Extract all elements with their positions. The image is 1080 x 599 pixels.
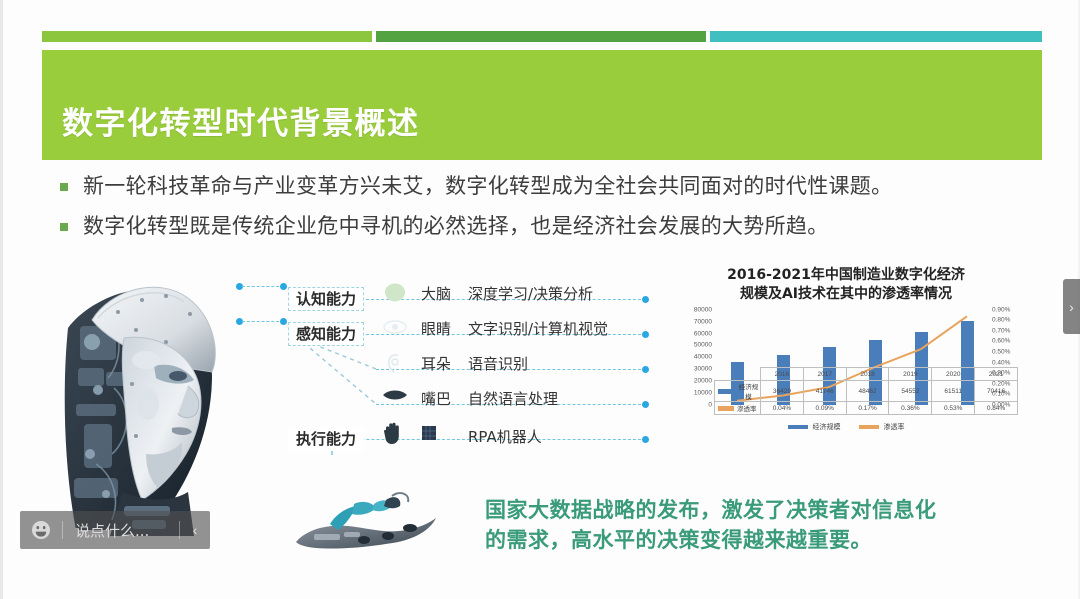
hand-icon (376, 422, 410, 451)
page-title: 数字化转型时代背景概述 (62, 98, 420, 143)
bullet-list: 新一轮科技革命与产业变革方兴未艾，数字化转型成为全社会共同面对的时代性课题。 数… (60, 172, 1020, 253)
series-swatch-line-icon (718, 406, 734, 411)
video-slide-viewport: 数字化转型时代背景概述 新一轮科技革命与产业变革方兴未艾，数字化转型成为全社会共… (0, 0, 1080, 599)
y-tick-label: 30000 (694, 366, 712, 373)
chart-panel: 2016-2021年中国制造业数字化经济 规模及AI技术在其中的渗透率情况 80… (676, 266, 1016, 466)
accent-bar-row (42, 31, 1042, 42)
capability-chip-execution[interactable]: 执行能力 (288, 427, 364, 451)
table-corner-cell (715, 368, 761, 381)
legend-item-line: 渗透率 (859, 422, 905, 432)
table-header-cell: 2020 (932, 368, 975, 381)
accent-bar-3 (710, 31, 1042, 42)
connector-dot (642, 436, 649, 443)
part-name: 大脑 (421, 283, 451, 304)
part-desc: 自然语言处理 (468, 388, 558, 409)
table-cell: 0.84% (975, 402, 1018, 415)
y-tick-label: 20000 (694, 378, 712, 385)
capability-chip-perception[interactable]: 感知能力 (288, 322, 364, 346)
table-header-cell: 2016 (761, 368, 804, 381)
list-item: 新一轮科技革命与产业变革方兴未艾，数字化转型成为全社会共同面对的时代性课题。 (60, 172, 1020, 200)
title-band: 数字化转型时代背景概述 (42, 50, 1042, 160)
table-cell: 41746 (803, 381, 846, 402)
chart-title-line1: 2016-2021年中国制造业数字化经济 (727, 267, 965, 283)
caption-line-2: 的需求，高水平的决策变得越来越重要。 (485, 525, 985, 555)
mouth-icon (378, 388, 412, 407)
y-tick-label: 50000 (694, 342, 712, 349)
chart-legend: 经济规模 渗透率 (676, 422, 1016, 432)
table-series-label-cell: 渗透率 (715, 402, 761, 415)
table-cell: 0.36% (889, 402, 932, 415)
table-cell: 0.17% (846, 402, 889, 415)
chart-y-axis-left: 8000070000600005000040000300002000010000… (676, 310, 712, 405)
part-desc: RPA机器人 (468, 426, 542, 447)
legend-label: 渗透率 (884, 422, 905, 432)
series-name: 渗透率 (737, 403, 757, 413)
bullet-text: 新一轮科技革命与产业变革方兴未艾，数字化转型成为全社会共同面对的时代性课题。 (83, 172, 892, 200)
chart-data-table: 2016 2017 2018 2019 2020 2021 经济规模 36429 (714, 367, 1018, 415)
accent-bar-1 (42, 31, 372, 42)
letterbox-left-edge (0, 0, 3, 599)
connector-dot (642, 366, 649, 373)
table-cell: 48462 (846, 381, 889, 402)
caption-line-1: 国家大数据战略的发布，激发了决策者对信息化 (485, 495, 985, 525)
table-row-header: 2016 2017 2018 2019 2020 2021 (715, 368, 1018, 381)
y2-tick-label: 0.50% (992, 349, 1010, 356)
y-tick-label: 70000 (694, 318, 712, 325)
part-name: 眼睛 (421, 318, 451, 339)
series-swatch-bar-icon (718, 389, 734, 394)
connector-line (242, 321, 284, 322)
table-header-cell: 2019 (889, 368, 932, 381)
connector-dot (642, 331, 649, 338)
table-cell: 54552 (889, 381, 932, 402)
table-cell: 0.09% (803, 402, 846, 415)
rpa-block-icon (412, 424, 446, 447)
comment-input[interactable]: 说点什么... (63, 520, 179, 541)
chart-title: 2016-2021年中国制造业数字化经济 规模及AI技术在其中的渗透率情况 (676, 266, 1016, 304)
y2-tick-label: 0.80% (992, 317, 1010, 324)
table-header-cell: 2018 (846, 368, 889, 381)
y2-tick-label: 0.70% (992, 327, 1010, 334)
accent-bar-2 (376, 31, 706, 42)
bullet-marker-icon (60, 183, 68, 191)
connector-line (242, 286, 284, 287)
part-desc: 文字识别/计算机视觉 (468, 318, 608, 339)
y-tick-label: 40000 (694, 354, 712, 361)
table-cell: 61511 (932, 381, 975, 402)
connector-dot (280, 283, 287, 290)
chart-title-line2: 规模及AI技术在其中的渗透率情况 (676, 285, 1016, 304)
connector-dot (642, 296, 649, 303)
comment-bar[interactable]: 说点什么... ‹ (20, 511, 210, 549)
bullet-text: 数字化转型既是传统企业危中寻机的必然选择，也是经济社会发展的大势所趋。 (83, 212, 829, 240)
capability-diagram: 认知能力 感知能力 执行能力 大脑 深度学习/决策分析 眼睛 文字识别/计算机视… (236, 268, 656, 458)
robotic-hand-image (290, 480, 450, 555)
legend-swatch-icon (788, 425, 808, 429)
connector-dot (280, 318, 287, 325)
table-series-label-cell: 经济规模 (715, 381, 761, 402)
table-row: 经济规模 36429 41746 48462 54552 61511 70416 (715, 381, 1018, 402)
table-cell: 36429 (761, 381, 804, 402)
eye-icon (378, 317, 412, 342)
capability-chip-cognitive[interactable]: 认知能力 (288, 287, 364, 311)
table-header-cell: 2017 (803, 368, 846, 381)
y-tick-label: 80000 (694, 306, 712, 313)
chevron-left-icon[interactable]: ‹ (180, 522, 210, 538)
legend-item-bar: 经济规模 (788, 422, 841, 432)
part-desc: 深度学习/决策分析 (468, 283, 593, 304)
table-row: 渗透率 0.04% 0.09% 0.17% 0.36% 0.53% 0.84% (715, 402, 1018, 415)
chevron-right-icon: › (1069, 299, 1074, 315)
smiley-icon[interactable] (20, 520, 62, 540)
table-cell: 70416 (975, 381, 1018, 402)
list-item: 数字化转型既是传统企业危中寻机的必然选择，也是经济社会发展的大势所趋。 (60, 212, 1020, 240)
y-tick-label: 0 (708, 401, 712, 408)
legend-swatch-icon (859, 425, 879, 429)
connector-dot (642, 401, 649, 408)
y-tick-label: 60000 (694, 330, 712, 337)
legend-label: 经济规模 (813, 422, 841, 432)
highlight-caption: 国家大数据战略的发布，激发了决策者对信息化 的需求，高水平的决策变得越来越重要。 (485, 495, 985, 556)
ear-icon (378, 352, 412, 379)
part-desc: 语音识别 (468, 353, 528, 374)
table-header-cell: 2021 (975, 368, 1018, 381)
part-name: 嘴巴 (421, 388, 451, 409)
drawer-toggle-button[interactable]: › (1063, 279, 1080, 334)
robot-head-image (62, 268, 230, 536)
bullet-marker-icon (60, 223, 68, 231)
series-name: 经济规模 (737, 381, 760, 401)
brain-icon (378, 282, 412, 309)
y2-tick-label: 0.40% (992, 359, 1010, 366)
y-tick-label: 10000 (694, 389, 712, 396)
table-cell: 0.04% (761, 402, 804, 415)
y2-tick-label: 0.60% (992, 338, 1010, 345)
y2-tick-label: 0.90% (992, 306, 1010, 313)
part-name: 耳朵 (421, 353, 451, 374)
table-cell: 0.53% (932, 402, 975, 415)
